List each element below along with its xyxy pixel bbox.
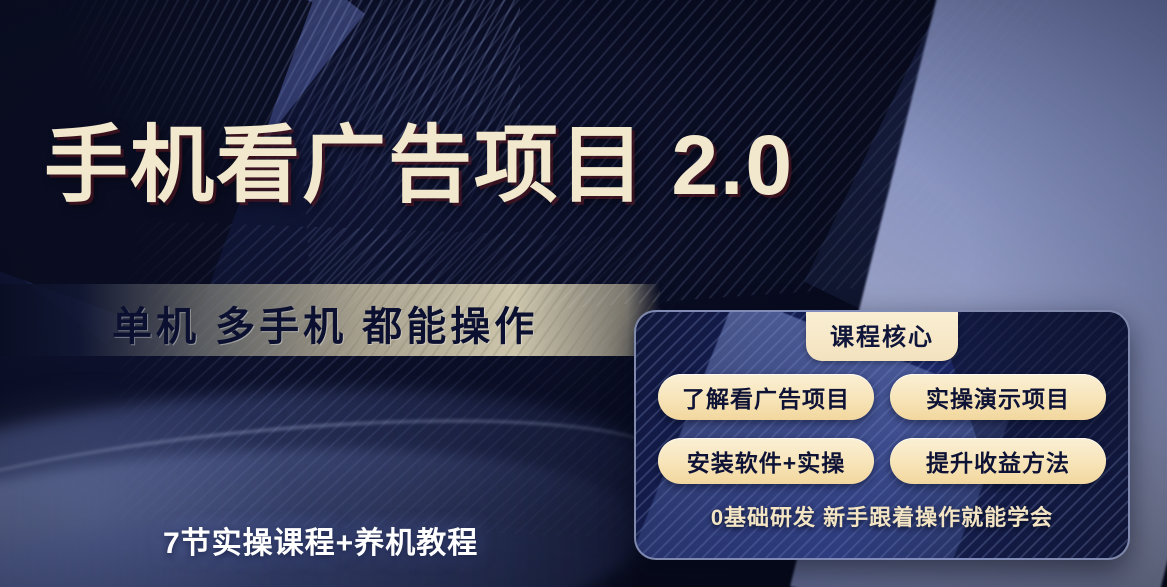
- card-header-badge: 课程核心: [806, 312, 958, 361]
- course-core-card: 课程核心 了解看广告项目 实操演示项目 安装软件+实操 提升收益方法 0基础研发…: [634, 310, 1130, 560]
- card-footer-note: 0基础研发 新手跟着操作就能学会: [636, 500, 1128, 532]
- card-content: 课程核心 了解看广告项目 实操演示项目 安装软件+实操 提升收益方法 0基础研发…: [636, 312, 1128, 558]
- promo-banner: 手机看广告项目 2.0 单机 多手机 都能操作 7节实操课程+养机教程 课程核心…: [0, 0, 1167, 587]
- course-topic-pill-3[interactable]: 安装软件+实操: [658, 438, 874, 484]
- course-topic-pill-2[interactable]: 实操演示项目: [890, 374, 1106, 420]
- banner-subtitle: 单机 多手机 都能操作: [112, 294, 538, 352]
- course-topic-pill-4[interactable]: 提升收益方法: [890, 438, 1106, 484]
- course-topic-list: 了解看广告项目 实操演示项目 安装软件+实操 提升收益方法: [658, 374, 1106, 484]
- course-count-line: 7节实操课程+养机教程: [163, 518, 478, 562]
- banner-title: 手机看广告项目 2.0: [44, 118, 1044, 212]
- course-topic-pill-1[interactable]: 了解看广告项目: [658, 374, 874, 420]
